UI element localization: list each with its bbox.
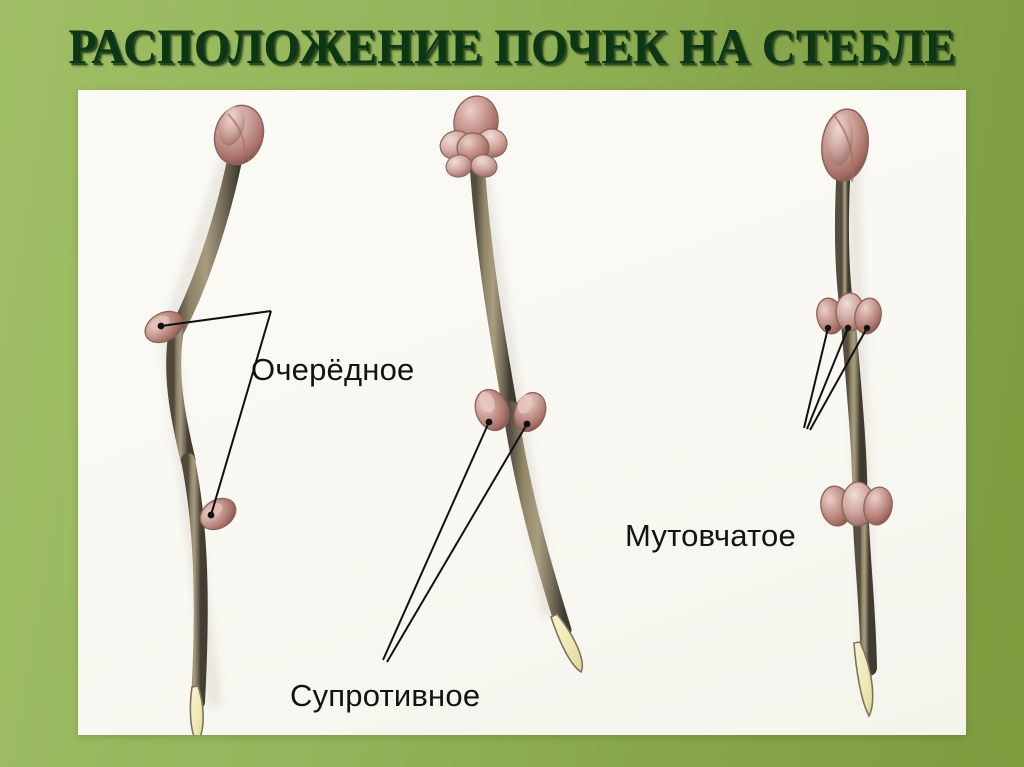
label-alternate-arrangement: Очерёдное — [251, 352, 414, 388]
branch-alternate — [140, 100, 271, 735]
bud-arrangement-diagram — [78, 90, 966, 735]
slide-root: РАСПОЛОЖЕНИЕ ПОЧЕК НА СТЕБЛЕ — [0, 0, 1024, 767]
title-bar: РАСПОЛОЖЕНИЕ ПОЧЕК НА СТЕБЛЕ — [0, 0, 1024, 92]
bud-terminal — [208, 100, 271, 171]
label-whorled-arrangement: Мутовчатое — [625, 518, 796, 554]
branch-whorled — [804, 107, 895, 716]
illustration-panel: Очерёдное Супротивное Мутовчатое — [78, 90, 966, 735]
label-opposite-arrangement: Супротивное — [290, 678, 480, 714]
bud-terminal — [818, 107, 871, 183]
stem-segment-lower — [188, 460, 201, 702]
bud-terminal-cluster — [436, 93, 510, 179]
leader-lines-opposite — [383, 419, 530, 662]
bud-whorl-lower — [818, 482, 895, 528]
page-title: РАСПОЛОЖЕНИЕ ПОЧЕК НА СТЕБЛЕ — [68, 21, 956, 71]
stem-segment-lower — [510, 408, 564, 630]
stem-segment-upper — [176, 142, 238, 332]
